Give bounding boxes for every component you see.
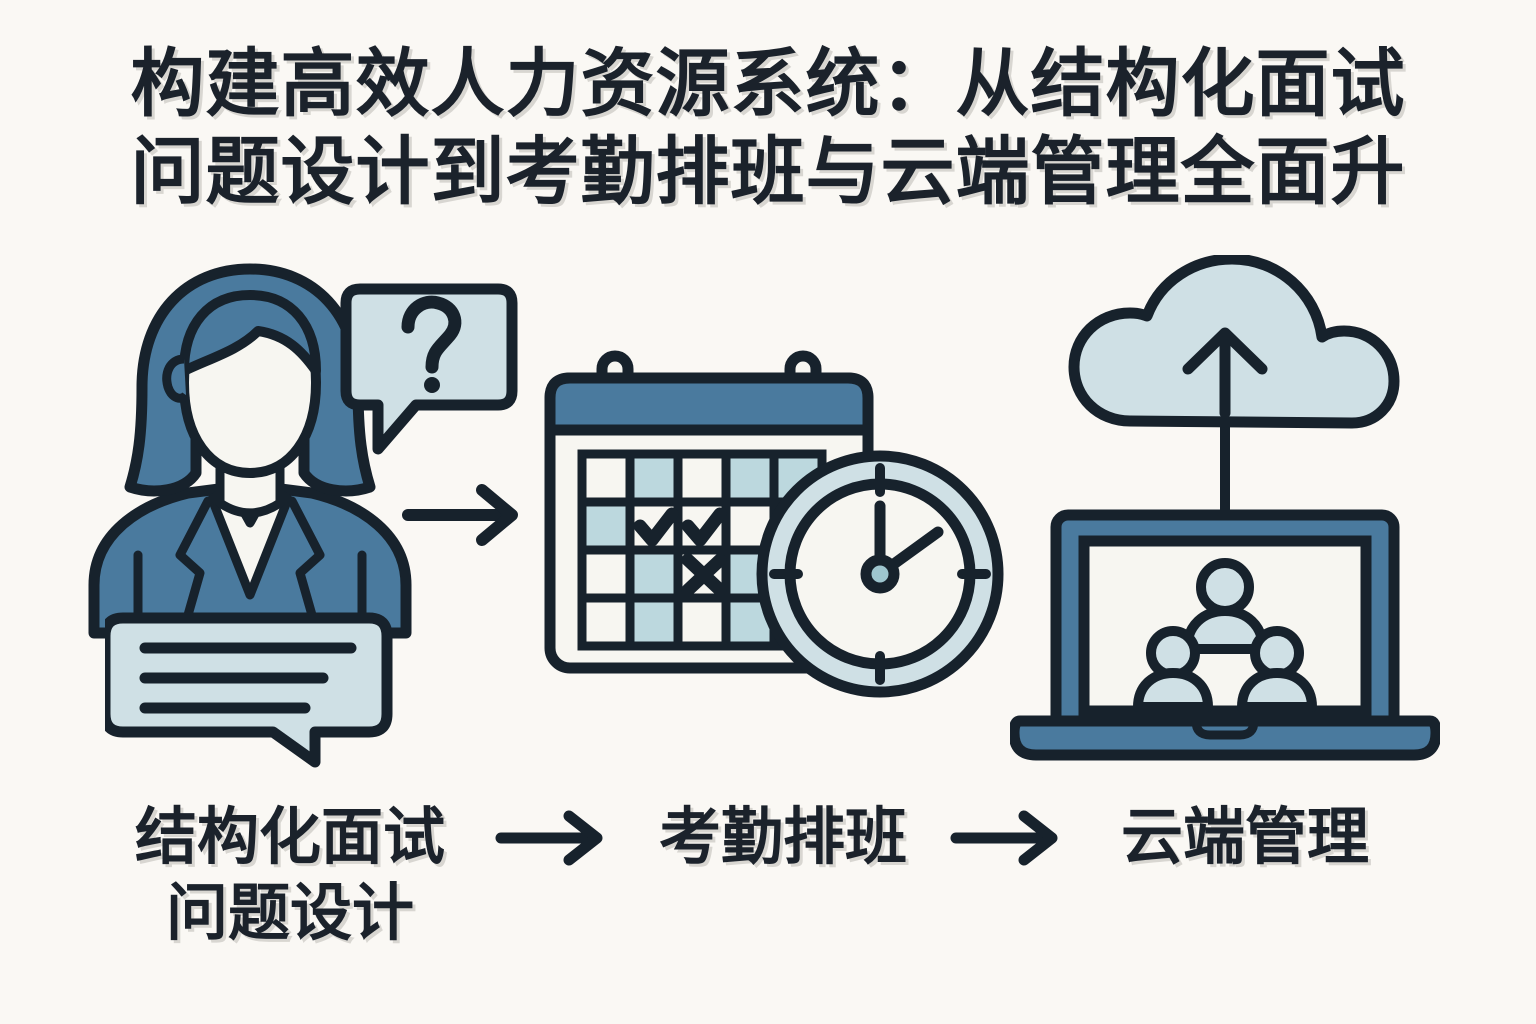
person-body-top <box>1187 611 1263 649</box>
cloud-laptop-svg <box>1010 255 1440 765</box>
page-title: 构建高效人力资源系统：从结构化面试 问题设计到考勤排班与云端管理全面升 <box>0 40 1536 216</box>
cell-r4c2 <box>630 598 678 646</box>
cell-r1c3 <box>678 454 726 502</box>
cell-r1c2 <box>630 454 678 502</box>
attendance-schedule-icon <box>540 350 1030 700</box>
chat-bubble-svg <box>105 610 405 775</box>
calendar-header <box>550 378 868 430</box>
cell-r4c1 <box>582 598 630 646</box>
cell-r3c1 <box>582 550 630 598</box>
person-body-left <box>1138 673 1208 707</box>
caption-arrow-2 <box>950 808 1070 868</box>
cell-r2c1 <box>582 502 630 550</box>
avatar-ear <box>167 359 186 398</box>
caption-arrow-1 <box>495 808 615 868</box>
clock <box>762 456 998 692</box>
cell-r4c3 <box>678 598 726 646</box>
cell-r1c1 <box>582 454 630 502</box>
caption-cloud: 云端管理 <box>1080 800 1410 876</box>
question-speech-bubble <box>340 275 530 475</box>
calendar-clock-svg <box>540 350 1030 700</box>
caption-row: 结构化面试 问题设计 考勤排班 云端管理 <box>0 780 1536 970</box>
caption-cloud-line1: 云端管理 <box>1121 803 1369 872</box>
caption-arrow-2-svg <box>950 808 1070 868</box>
poster-canvas: 构建高效人力资源系统：从结构化面试 问题设计到考勤排班与云端管理全面升 <box>0 0 1536 1024</box>
caption-attendance: 考勤排班 <box>618 800 948 876</box>
caption-interview: 结构化面试 问题设计 <box>90 800 490 952</box>
person-head-top <box>1201 563 1249 611</box>
chat-bubble-shape <box>105 618 387 762</box>
cell-r3c2 <box>630 550 678 598</box>
chat-bubble-lines <box>105 610 405 775</box>
icon-row <box>0 255 1536 775</box>
caption-attendance-line1: 考勤排班 <box>659 803 907 872</box>
cloud-management-icon <box>1010 255 1440 765</box>
title-line-2: 问题设计到考勤排班与云端管理全面升 <box>0 128 1536 216</box>
cell-r1c4 <box>726 454 774 502</box>
question-bubble-svg <box>340 275 530 475</box>
clock-center-pin <box>866 560 894 588</box>
flow-arrow-1-svg <box>400 480 530 550</box>
question-mark-dot <box>424 377 440 393</box>
flow-arrow-1 <box>400 480 530 550</box>
caption-interview-line2: 问题设计 <box>90 876 490 952</box>
caption-arrow-1-svg <box>495 808 615 868</box>
title-line-1: 构建高效人力资源系统：从结构化面试 <box>0 40 1536 128</box>
person-body-right <box>1242 673 1312 707</box>
caption-interview-line1: 结构化面试 <box>135 803 445 872</box>
